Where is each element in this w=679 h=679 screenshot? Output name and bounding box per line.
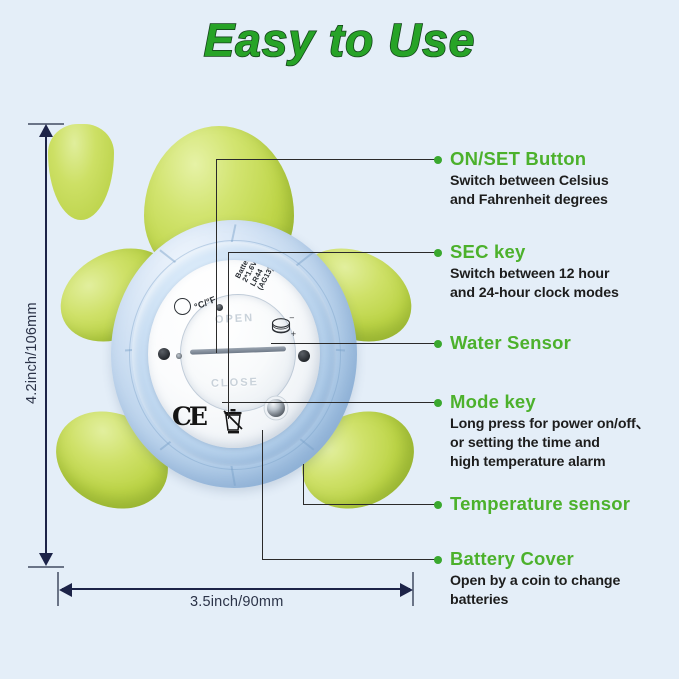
leader-dot-battery-cover	[434, 556, 442, 564]
leader-line-temp-h	[303, 504, 437, 505]
weee-bin-icon	[222, 408, 244, 434]
leader-line-sec-v	[228, 252, 229, 419]
svg-text:+: +	[291, 330, 297, 338]
callout-heading: SEC key	[450, 241, 619, 262]
height-dimension-label: 4.2inch/106mm	[24, 302, 40, 404]
width-arrow-right	[400, 583, 413, 597]
width-dimension-line	[62, 588, 410, 590]
callout-mode-key: Mode key Long press for power on/off、 or…	[450, 391, 650, 471]
leader-line-battery-v	[262, 430, 263, 560]
mode-key-left[interactable]	[158, 348, 170, 360]
callout-heading: ON/SET Button	[450, 148, 609, 169]
leader-line-temp-v	[303, 464, 304, 505]
turtle-tail	[48, 124, 114, 220]
buzzer-icon: − +	[270, 315, 296, 341]
callout-heading: Battery Cover	[450, 548, 620, 569]
height-dimension-line	[45, 128, 47, 564]
callout-on-set-button: ON/SET Button Switch between Celsius and…	[450, 148, 609, 210]
battery-spec-label: Battery: 2*1.6V LR44 (AG13)	[234, 260, 277, 292]
ce-mark-icon: CE	[172, 402, 205, 431]
callout-body: Switch between 12 hour and 24-hour clock…	[450, 265, 619, 302]
cover-open-label: OPEN	[215, 312, 255, 326]
leader-dot-temp-sensor	[434, 501, 442, 509]
leader-line-water-sensor	[271, 343, 437, 344]
leader-dot-on-set	[434, 156, 442, 164]
svg-text:−: −	[289, 315, 295, 322]
infographic-canvas: Easy to Use 4.2inch/106mm 3.5inch/90mm	[0, 0, 679, 679]
leader-dot-water-sensor	[434, 340, 442, 348]
width-arrow-left	[59, 583, 72, 597]
leader-line-sec-h	[228, 252, 437, 253]
callout-heading: Mode key	[450, 391, 650, 412]
leader-dot-mode-key	[434, 399, 442, 407]
callout-water-sensor: Water Sensor	[450, 332, 571, 353]
callout-heading: Water Sensor	[450, 332, 571, 353]
leader-line-mode-key	[222, 402, 437, 403]
callout-body: Open by a coin to change batteries	[450, 572, 620, 609]
callout-heading: Temperature sensor	[450, 493, 630, 514]
callout-battery-cover: Battery Cover Open by a coin to change b…	[450, 548, 620, 610]
callout-temperature-sensor: Temperature sensor	[450, 493, 630, 514]
leader-dot-sec	[434, 249, 442, 257]
product-image-turtle-thermometer: OPEN CLOSE ON/OFF °C/°F Battery: 2*1.6V …	[48, 124, 418, 569]
leader-line-on-set-v	[216, 159, 217, 353]
page-title: Easy to Use	[0, 16, 679, 64]
cover-close-label: CLOSE	[211, 376, 259, 390]
callout-body: Switch between Celsius and Fahrenheit de…	[450, 172, 609, 209]
control-panel: OPEN CLOSE ON/OFF °C/°F Battery: 2*1.6V …	[148, 260, 320, 448]
panel-pin-left	[176, 353, 182, 359]
leader-line-battery-h	[262, 559, 437, 560]
callout-body: Long press for power on/off、 or setting …	[450, 415, 650, 471]
width-dimension-label: 3.5inch/90mm	[190, 594, 283, 610]
leader-line-on-set-h	[216, 159, 437, 160]
on-set-button[interactable]	[174, 298, 191, 315]
callout-sec-key: SEC key Switch between 12 hour and 24-ho…	[450, 241, 619, 303]
mode-key-right[interactable]	[298, 350, 310, 362]
